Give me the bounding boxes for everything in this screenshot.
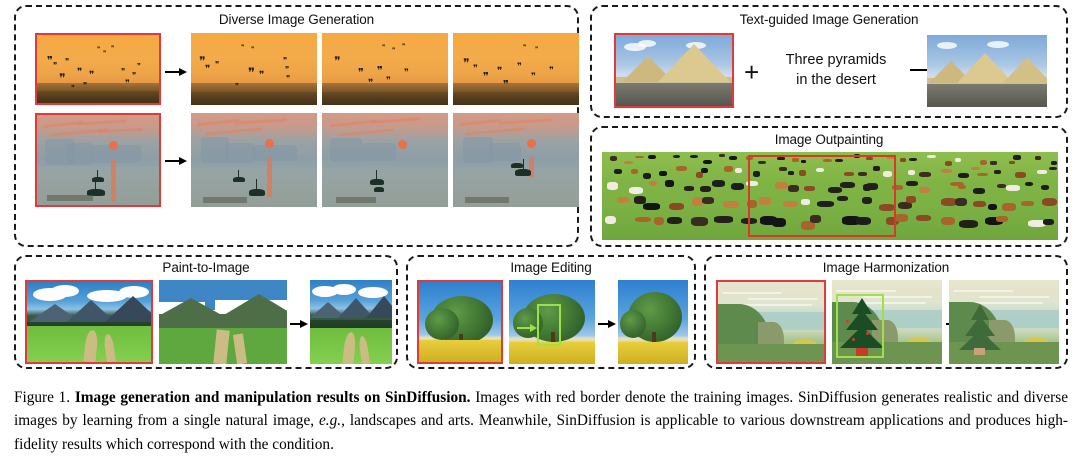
cow-marker	[908, 170, 915, 175]
cow-marker	[667, 217, 682, 224]
cow-marker	[988, 204, 997, 210]
cow-marker	[669, 203, 683, 210]
cow-marker	[746, 156, 753, 160]
cow-marker	[1037, 170, 1046, 174]
cow-marker	[735, 168, 742, 173]
cow-marker	[866, 183, 878, 190]
edit-direction-arrow	[517, 324, 537, 332]
cow-marker	[1002, 203, 1017, 210]
panel-title-outpainting: Image Outpainting	[592, 132, 1066, 147]
cow-marker	[792, 158, 799, 161]
cow-marker	[1041, 185, 1049, 191]
cow-marker	[844, 172, 854, 176]
cow-marker	[799, 170, 806, 176]
cow-marker	[746, 181, 758, 186]
cow-marker	[629, 187, 643, 194]
cow-marker	[828, 187, 842, 193]
panel-title-paint-to-image: Paint-to-Image	[16, 260, 396, 275]
figure-container: Diverse Image Generation ❞ ❞ ❞ ❞ ❞ ❞ ❞ ❞…	[0, 0, 1080, 464]
cow-marker	[724, 166, 732, 172]
panel-image-outpainting: Image Outpainting	[590, 126, 1068, 247]
cow-marker	[635, 156, 644, 159]
cow-marker	[777, 157, 784, 160]
generated-image-monet-3	[453, 113, 579, 207]
cow-marker	[788, 185, 800, 192]
cow-marker	[690, 155, 698, 158]
cow-marker	[866, 157, 873, 160]
text-prompt: Three pyramids in the desert	[768, 51, 904, 90]
cow-marker	[635, 217, 650, 223]
cow-marker	[701, 168, 708, 173]
panel-title-diverse: Diverse Image Generation	[16, 12, 577, 27]
cow-marker	[691, 217, 708, 226]
cow-marker	[973, 201, 986, 207]
cow-marker	[958, 185, 966, 189]
cow-marker	[854, 154, 860, 158]
cow-marker	[856, 217, 872, 225]
generated-image-monet-1	[191, 113, 317, 207]
cow-marker	[977, 173, 988, 177]
cow-marker	[775, 182, 787, 189]
cow-marker	[700, 186, 711, 192]
panel-diverse-image-generation: Diverse Image Generation ❞ ❞ ❞ ❞ ❞ ❞ ❞ ❞…	[14, 5, 579, 247]
cow-marker	[1051, 161, 1057, 165]
generated-image-landscape	[310, 280, 392, 364]
cow-marker	[772, 218, 786, 227]
cow-marker	[994, 170, 1001, 174]
cow-marker	[607, 182, 618, 189]
panel-image-harmonization: Image Harmonization	[704, 255, 1068, 369]
panel-text-guided-generation: Text-guided Image Generation + Three pyr…	[590, 5, 1068, 118]
cow-marker	[996, 216, 1007, 222]
training-image-monet	[35, 113, 161, 207]
figure-caption: Figure 1. Image generation and manipulat…	[14, 386, 1068, 456]
arrow-monet-generate	[165, 156, 187, 165]
cow-marker	[919, 187, 930, 194]
cow-marker	[1006, 185, 1019, 191]
panel-title-image-editing: Image Editing	[408, 260, 694, 275]
cow-marker	[804, 186, 815, 191]
cow-marker	[759, 197, 770, 205]
cow-marker	[654, 217, 665, 226]
cow-marker	[810, 215, 821, 222]
cow-marker	[1009, 161, 1015, 164]
cow-marker	[840, 182, 854, 188]
cow-marker	[673, 155, 680, 159]
cow-marker	[958, 173, 969, 178]
generated-image-monet-2	[322, 113, 448, 207]
training-image-tree	[417, 280, 503, 364]
cow-marker	[1013, 155, 1021, 159]
cow-marker	[723, 201, 739, 208]
cow-marker	[971, 167, 981, 171]
cow-marker	[816, 168, 824, 173]
cow-marker	[712, 180, 725, 187]
cow-marker	[873, 166, 880, 170]
cow-marker	[941, 169, 952, 174]
cow-marker	[1042, 198, 1058, 206]
cow-marker	[648, 155, 656, 160]
panel-title-harmonization: Image Harmonization	[706, 260, 1066, 275]
cow-marker	[605, 216, 616, 224]
cow-marker	[862, 197, 872, 204]
panel-image-editing: Image Editing	[406, 255, 696, 369]
cow-marker	[1021, 201, 1034, 206]
cow-marker	[955, 198, 967, 206]
cow-marker	[997, 184, 1006, 189]
cow-marker	[665, 180, 674, 186]
cow-marker	[980, 160, 987, 165]
caption-eg: e.g.	[319, 412, 341, 429]
cow-marker	[643, 173, 652, 179]
cow-marker	[676, 166, 687, 171]
cow-marker	[624, 161, 633, 164]
cow-marker	[823, 159, 832, 162]
cow-marker	[906, 196, 915, 202]
cow-marker	[858, 172, 867, 176]
composited-image-christmas-tree	[832, 280, 942, 364]
training-image-landscape	[25, 280, 153, 364]
cow-marker	[731, 183, 744, 190]
cow-marker	[801, 160, 807, 163]
cow-marker	[973, 188, 985, 194]
training-image-pyramids	[614, 33, 734, 108]
cow-marker	[1035, 156, 1041, 160]
cow-marker	[887, 156, 894, 159]
cow-marker	[659, 171, 666, 176]
cow-marker	[684, 186, 694, 190]
panel-title-text-guided: Text-guided Image Generation	[592, 12, 1066, 27]
cow-marker	[714, 216, 733, 222]
generated-image-birds-2: ❞ ❞ ❞ ❞ ❞ ❞ ❞ ❞ ❞	[322, 33, 448, 105]
cow-marker	[898, 202, 912, 209]
cow-marker	[779, 167, 787, 171]
cow-marker	[631, 169, 639, 174]
cow-marker	[835, 159, 843, 162]
cow-marker	[719, 154, 725, 157]
arrow-birds-generate	[165, 67, 187, 76]
cow-marker	[649, 181, 658, 187]
cow-marker	[747, 200, 757, 208]
prompt-line-1: Three pyramids	[768, 51, 904, 71]
cow-marker	[1049, 167, 1057, 171]
cow-marker	[758, 161, 765, 165]
generated-image-birds-1: ❞ ❞ ❞ ❞ ❞ ❞ ❞ ❞ ❞ ❞ ❞	[191, 33, 317, 105]
paint-sketch-input	[159, 280, 287, 364]
cow-marker	[955, 158, 962, 162]
cow-marker	[900, 158, 906, 162]
cow-marker	[990, 161, 997, 164]
edited-image-tree-with-box	[509, 280, 595, 364]
cow-marker	[906, 181, 918, 186]
cow-marker	[1015, 172, 1026, 178]
training-image-coast-painting	[716, 280, 826, 364]
generated-image-birds-3: ❞ ❞ ❞ ❞ ❞ ❞ ❞ ❞ ❞ ❞	[453, 33, 579, 105]
panel-paint-to-image: Paint-to-Image	[14, 255, 398, 369]
cow-marker	[643, 203, 660, 210]
figure-label: Figure 1.	[14, 389, 70, 406]
training-image-birds: ❞ ❞ ❞ ❞ ❞ ❞ ❞ ❞ ❞ ❞ ❞ ❞ ❞ ❞ ❞	[35, 33, 161, 105]
cow-marker	[610, 156, 617, 161]
prompt-line-2: in the desert	[768, 71, 904, 91]
cow-marker	[919, 172, 931, 177]
cow-marker	[617, 197, 629, 202]
cow-marker	[817, 201, 833, 207]
generated-image-tree-edited	[618, 280, 688, 364]
cow-marker	[916, 215, 931, 221]
cow-marker	[959, 220, 978, 229]
cow-marker	[941, 217, 955, 225]
cow-marker	[1025, 182, 1033, 187]
cow-marker	[741, 218, 758, 224]
cow-marker	[729, 156, 737, 159]
cow-marker	[783, 201, 798, 207]
cow-marker	[892, 185, 903, 190]
cow-marker	[1043, 219, 1054, 225]
harmonized-image-result	[949, 280, 1059, 364]
cow-marker	[927, 155, 936, 158]
figure-title-bold: Image generation and manipulation result…	[75, 389, 471, 406]
arrow-image-editing	[598, 319, 616, 328]
cow-marker	[703, 160, 712, 164]
cow-marker	[801, 199, 810, 205]
cow-marker	[883, 171, 892, 177]
arrow-paint-to-image	[290, 319, 308, 328]
cow-marker	[801, 221, 815, 229]
cow-marker	[702, 197, 714, 204]
cow-marker	[945, 161, 953, 166]
cow-marker	[837, 196, 848, 201]
outpainted-image-cows	[602, 152, 1058, 240]
plus-symbol: +	[744, 59, 759, 85]
cow-marker	[614, 169, 622, 174]
cow-marker	[753, 171, 760, 177]
generated-image-three-pyramids	[927, 35, 1047, 107]
cow-marker	[879, 204, 895, 211]
cow-marker	[895, 214, 908, 221]
cow-marker	[788, 171, 794, 175]
cow-marker	[909, 158, 917, 162]
